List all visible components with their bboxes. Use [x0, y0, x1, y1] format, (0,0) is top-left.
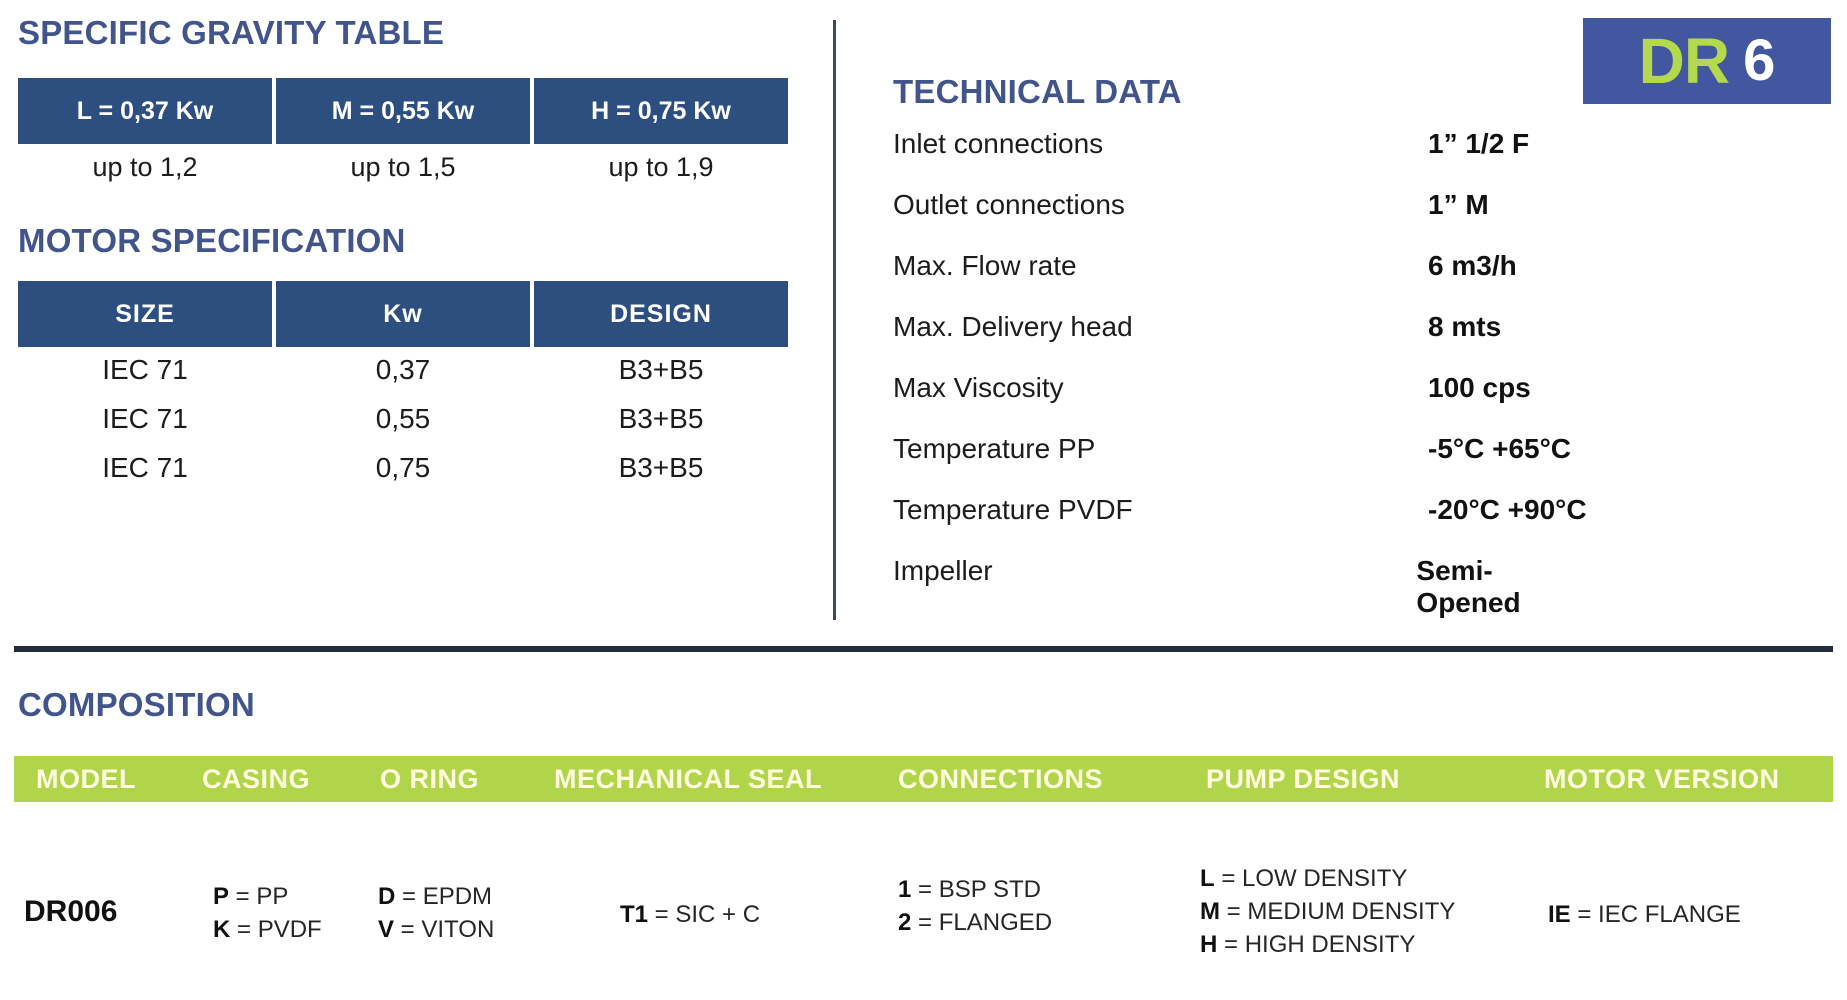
specific-gravity-value-h: up to 1,9: [534, 152, 788, 183]
legend-value: LOW DENSITY: [1242, 865, 1407, 892]
legend-sep: =: [911, 909, 938, 936]
tech-value: 1” M: [1428, 189, 1489, 221]
legend-item: IE = IEC FLANGE: [1548, 898, 1741, 931]
tech-label: Outlet connections: [893, 189, 1428, 221]
legend-pump-design: L = LOW DENSITY M = MEDIUM DENSITY H = H…: [1200, 862, 1455, 961]
list-item: Impeller Semi-Opened: [893, 555, 1593, 616]
legend-item: D = EPDM: [378, 880, 494, 913]
technical-data-list: Inlet connections 1” 1/2 F Outlet connec…: [893, 128, 1593, 616]
specific-gravity-cell-m: M = 0,55 Kw: [276, 78, 530, 144]
tech-label: Impeller: [893, 555, 1416, 587]
motor-column-kw: Kw: [276, 281, 530, 347]
motor-column-size: SIZE: [18, 281, 272, 347]
composition-header-connections: CONNECTIONS: [898, 756, 1103, 802]
legend-value: BSP STD: [939, 876, 1041, 903]
motor-column-design: DESIGN: [534, 281, 788, 347]
motor-cell-design: B3+B5: [534, 354, 788, 403]
vertical-divider: [833, 20, 836, 620]
legend-item: 1 = BSP STD: [898, 873, 1052, 906]
table-row: IEC 71 0,37 B3+B5: [18, 354, 788, 403]
tech-value: 8 mts: [1428, 311, 1501, 343]
badge-prefix: DR: [1639, 29, 1729, 93]
motor-cell-size: IEC 71: [18, 403, 272, 452]
legend-code: 1: [898, 876, 911, 903]
motor-table-body: IEC 71 0,37 B3+B5 IEC 71 0,55 B3+B5 IEC …: [18, 354, 788, 501]
composition-header-mechanical-seal: MECHANICAL SEAL: [554, 756, 822, 802]
legend-sep: =: [230, 916, 257, 943]
specific-gravity-cell-h: H = 0,75 Kw: [534, 78, 788, 144]
legend-code: P: [213, 883, 229, 910]
table-row: IEC 71 0,75 B3+B5: [18, 452, 788, 501]
tech-value: 1” 1/2 F: [1428, 128, 1529, 160]
legend-sep: =: [1220, 898, 1247, 925]
tech-label: Temperature PVDF: [893, 494, 1428, 526]
list-item: Temperature PP -5°C +65°C: [893, 433, 1593, 494]
specific-gravity-header-row: L = 0,37 Kw M = 0,55 Kw H = 0,75 Kw: [18, 78, 788, 144]
legend-value: PVDF: [258, 916, 322, 943]
legend-code: D: [378, 883, 395, 910]
badge-number: 6: [1743, 32, 1775, 90]
list-item: Temperature PVDF -20°C +90°C: [893, 494, 1593, 555]
legend-value: EPDM: [423, 883, 492, 910]
section-divider: [14, 646, 1833, 652]
composition-header-bar: MODEL CASING O RING MECHANICAL SEAL CONN…: [14, 756, 1833, 802]
legend-code: 2: [898, 909, 911, 936]
legend-value: VITON: [421, 916, 494, 943]
legend-sep: =: [1571, 901, 1598, 928]
motor-cell-kw: 0,37: [276, 354, 530, 403]
legend-sep: =: [911, 876, 938, 903]
motor-table-header: SIZE Kw DESIGN: [18, 281, 788, 347]
legend-code: L: [1200, 865, 1215, 892]
legend-value: MEDIUM DENSITY: [1247, 898, 1455, 925]
legend-casing: P = PP K = PVDF: [213, 880, 322, 946]
list-item: Max. Flow rate 6 m3/h: [893, 250, 1593, 311]
legend-model-code: DR006: [24, 895, 117, 929]
motor-cell-design: B3+B5: [534, 403, 788, 452]
legend-item: T1 = SIC + C: [620, 898, 760, 931]
composition-header-motor-version: MOTOR VERSION: [1544, 756, 1780, 802]
tech-label: Inlet connections: [893, 128, 1428, 160]
legend-sep: =: [395, 883, 422, 910]
legend-value: IEC FLANGE: [1598, 901, 1741, 928]
motor-cell-kw: 0,75: [276, 452, 530, 501]
specific-gravity-value-row: up to 1,2 up to 1,5 up to 1,9: [18, 152, 788, 183]
tech-label: Temperature PP: [893, 433, 1428, 465]
tech-value: 6 m3/h: [1428, 250, 1517, 282]
specific-gravity-value-l: up to 1,2: [18, 152, 272, 183]
motor-specification-title: MOTOR SPECIFICATION: [18, 222, 406, 260]
legend-code: M: [1200, 898, 1220, 925]
legend-sep: =: [1215, 865, 1242, 892]
tech-label: Max. Flow rate: [893, 250, 1428, 282]
legend-sep: =: [648, 901, 675, 928]
legend-mechanical-seal: T1 = SIC + C: [620, 898, 760, 931]
list-item: Max Viscosity 100 cps: [893, 372, 1593, 433]
legend-sep: =: [229, 883, 256, 910]
legend-sep: =: [1217, 931, 1244, 958]
legend-o-ring: D = EPDM V = VITON: [378, 880, 494, 946]
tech-value: 100 cps: [1428, 372, 1531, 404]
legend-code: IE: [1548, 901, 1571, 928]
motor-cell-design: B3+B5: [534, 452, 788, 501]
tech-label: Max. Delivery head: [893, 311, 1428, 343]
tech-value: -5°C +65°C: [1428, 433, 1571, 465]
specific-gravity-cell-l: L = 0,37 Kw: [18, 78, 272, 144]
composition-header-pump-design: PUMP DESIGN: [1206, 756, 1400, 802]
specific-gravity-value-m: up to 1,5: [276, 152, 530, 183]
motor-cell-size: IEC 71: [18, 452, 272, 501]
composition-header-casing: CASING: [202, 756, 310, 802]
legend-sep: =: [394, 916, 421, 943]
legend-value: HIGH DENSITY: [1245, 931, 1416, 958]
legend-code: K: [213, 916, 230, 943]
list-item: Max. Delivery head 8 mts: [893, 311, 1593, 372]
legend-item: P = PP: [213, 880, 322, 913]
legend-item: K = PVDF: [213, 913, 322, 946]
tech-label: Max Viscosity: [893, 372, 1428, 404]
model-badge: DR 6: [1583, 18, 1831, 104]
legend-value: FLANGED: [939, 909, 1052, 936]
legend-connections: 1 = BSP STD 2 = FLANGED: [898, 873, 1052, 939]
legend-value: SIC + C: [675, 901, 760, 928]
legend-item: V = VITON: [378, 913, 494, 946]
legend-item: 2 = FLANGED: [898, 906, 1052, 939]
motor-cell-size: IEC 71: [18, 354, 272, 403]
legend-code: V: [378, 916, 394, 943]
legend-item: H = HIGH DENSITY: [1200, 928, 1455, 961]
legend-value: PP: [256, 883, 288, 910]
composition-header-o-ring: O RING: [380, 756, 479, 802]
legend-motor-version: IE = IEC FLANGE: [1548, 898, 1741, 931]
technical-data-title: TECHNICAL DATA: [893, 73, 1182, 111]
motor-cell-kw: 0,55: [276, 403, 530, 452]
tech-value: -20°C +90°C: [1428, 494, 1587, 526]
list-item: Inlet connections 1” 1/2 F: [893, 128, 1593, 189]
specific-gravity-title: SPECIFIC GRAVITY TABLE: [18, 14, 444, 52]
legend-code: H: [1200, 931, 1217, 958]
composition-title: COMPOSITION: [18, 686, 255, 724]
composition-header-model: MODEL: [36, 756, 136, 802]
table-row: IEC 71 0,55 B3+B5: [18, 403, 788, 452]
tech-value: Semi-Opened: [1416, 555, 1593, 619]
legend-code: T1: [620, 901, 648, 928]
legend-item: M = MEDIUM DENSITY: [1200, 895, 1455, 928]
legend-item: L = LOW DENSITY: [1200, 862, 1455, 895]
list-item: Outlet connections 1” M: [893, 189, 1593, 250]
